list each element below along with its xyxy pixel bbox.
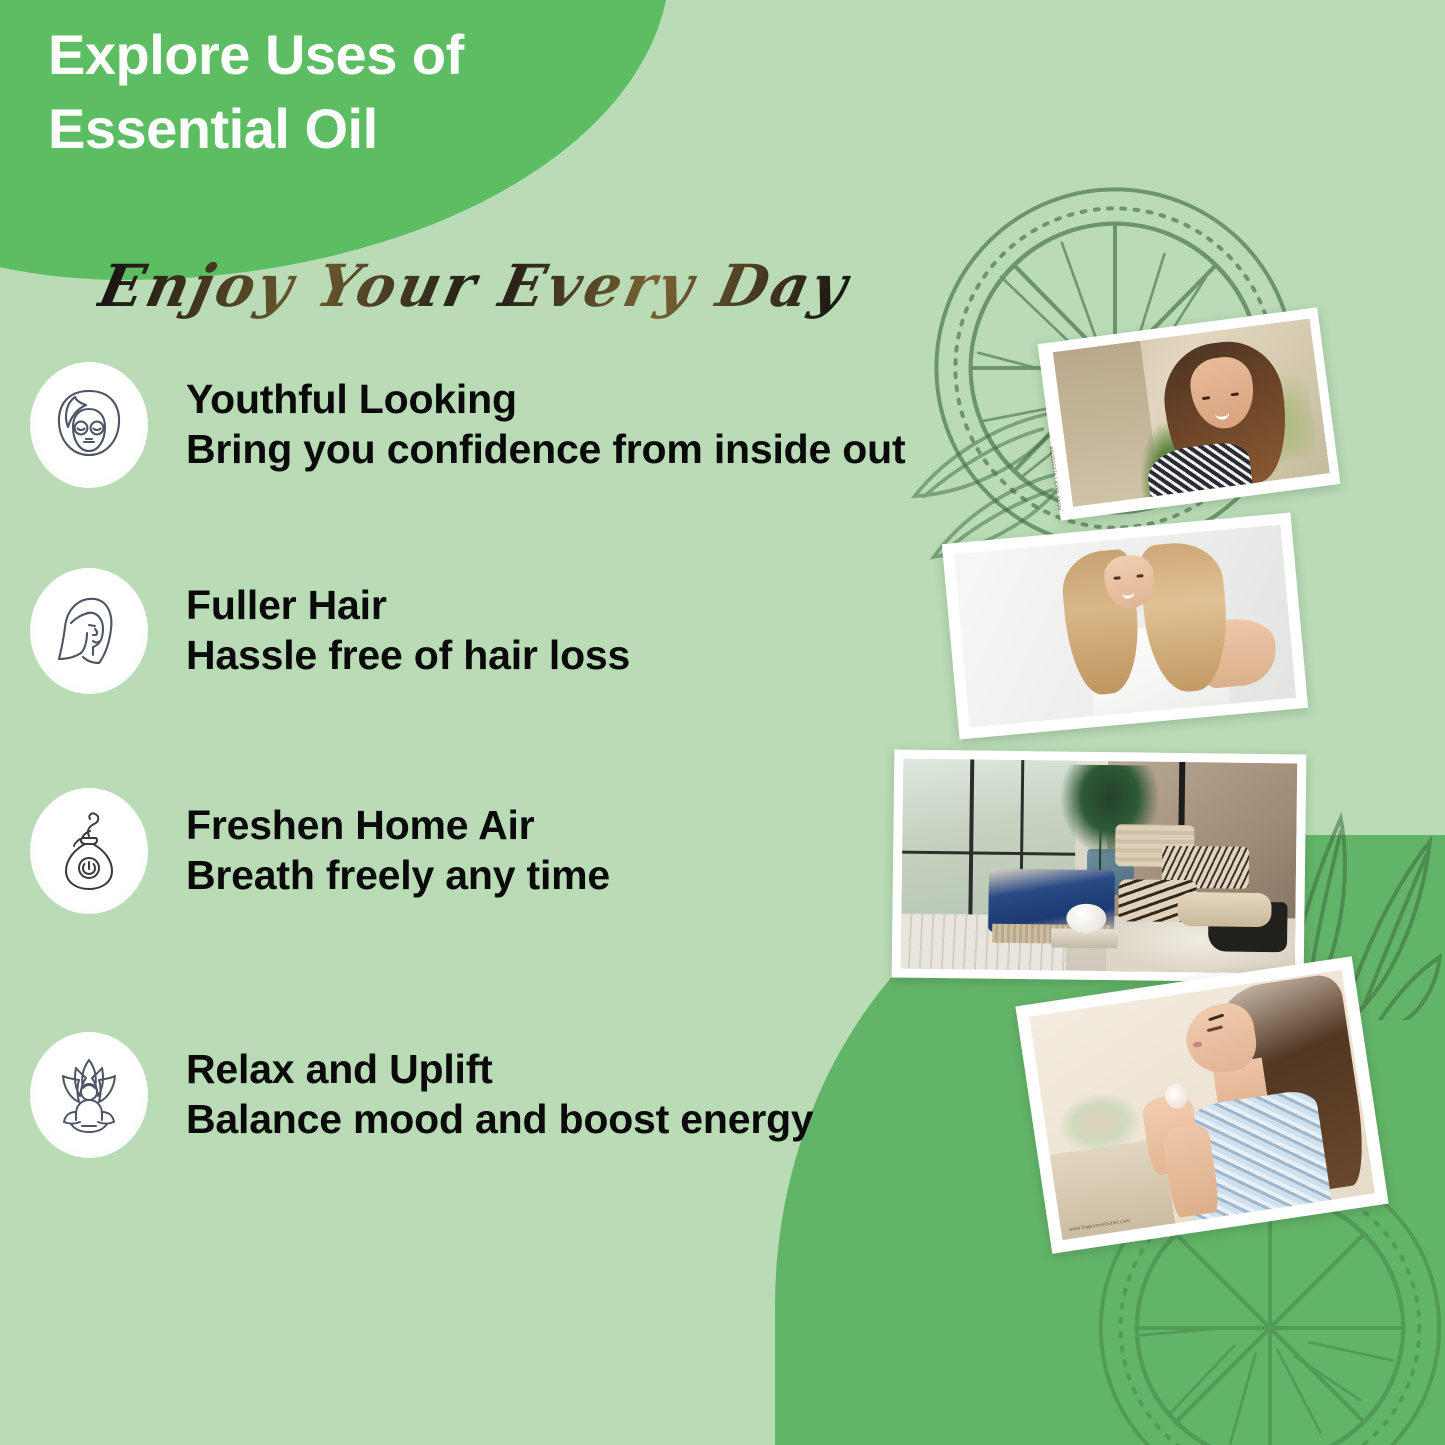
feature-subtitle: Balance mood and boost energy	[186, 1097, 814, 1143]
photo-image: www.fragranceOutlet.com	[1029, 970, 1375, 1240]
photo-image	[1053, 318, 1330, 506]
feature-text-block: Freshen Home Air Breath freely any time	[186, 803, 610, 899]
photo-woman-applying-perfume: www.fragranceOutlet.com	[1015, 956, 1388, 1254]
feature-title: Relax and Uplift	[186, 1047, 814, 1093]
aroma-diffuser-icon	[30, 788, 148, 914]
infographic-canvas: Explore Uses of Essential Oil Enjoy Your…	[0, 0, 1445, 1445]
page-title-line-2: Essential Oil	[48, 92, 668, 166]
tagline: Enjoy Your Every Day	[93, 252, 856, 320]
feature-title: Youthful Looking	[186, 377, 905, 423]
feature-row-fuller-hair: Fuller Hair Hassle free of hair loss	[30, 568, 630, 694]
feature-row-freshen-home-air: Freshen Home Air Breath freely any time	[30, 788, 610, 914]
feature-text-block: Youthful Looking Bring you confidence fr…	[186, 377, 905, 473]
feature-text-block: Relax and Uplift Balance mood and boost …	[186, 1047, 814, 1143]
feature-row-relax-and-uplift: Relax and Uplift Balance mood and boost …	[30, 1032, 814, 1158]
photo-blonde-wavy-hair	[942, 513, 1308, 740]
feature-subtitle: Hassle free of hair loss	[186, 633, 630, 679]
photo-image	[901, 759, 1298, 974]
page-title: Explore Uses of Essential Oil	[48, 18, 668, 166]
feature-text-block: Fuller Hair Hassle free of hair loss	[186, 583, 630, 679]
photo-boho-living-room	[892, 749, 1307, 982]
face-mask-icon	[30, 362, 148, 488]
feature-subtitle: Breath freely any time	[186, 853, 610, 899]
photo-smiling-woman-cafe: Adobe Stock | #123456789	[1038, 307, 1341, 520]
page-title-line-1: Explore Uses of	[48, 18, 668, 92]
feature-title: Freshen Home Air	[186, 803, 610, 849]
feature-row-youthful-looking: Youthful Looking Bring you confidence fr…	[30, 362, 905, 488]
feature-subtitle: Bring you confidence from inside out	[186, 427, 905, 473]
lotus-meditation-icon	[30, 1032, 148, 1158]
feature-title: Fuller Hair	[186, 583, 630, 629]
photo-image	[954, 524, 1296, 727]
long-hair-woman-icon	[30, 568, 148, 694]
